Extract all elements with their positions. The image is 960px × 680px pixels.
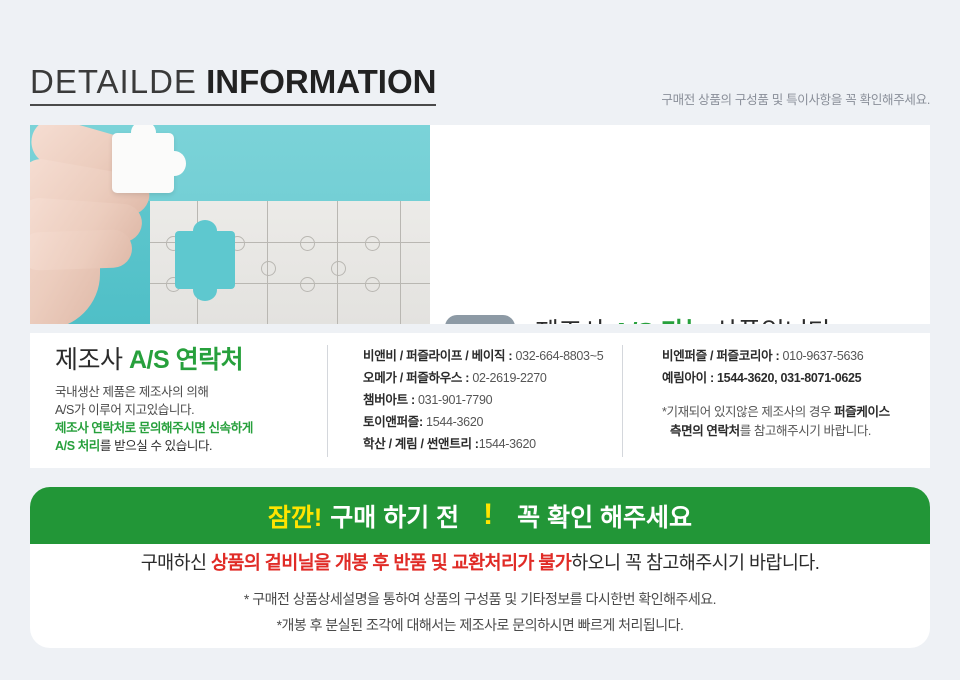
contact-description: 국내생산 제품은 제조사의 의해 A/S가 이루어 지고있습니다. 제조사 연락…: [55, 383, 335, 455]
contact-footnote-bold-1: 퍼즐케이스: [834, 405, 890, 419]
contact-entry-number: 1544-3620, 031-8071-0625: [717, 371, 861, 385]
header-note: 구매전 상품의 구성품 및 특이사항을 꼭 확인해주세요.: [661, 89, 930, 108]
green-banner: 잠깐! 구매 하기 전 ! 꼭 확인 해주세요: [30, 487, 930, 544]
contact-entry-name: 챔버아트 :: [363, 393, 418, 407]
contact-entry: 토이앤퍼즐: 1544-3620: [363, 411, 618, 433]
contact-footnote-post: 를 참고해주시기 바랍니다.: [740, 424, 871, 438]
contact-column-right: 비엔퍼즐 / 퍼즐코리아 : 010-9637-5636 예림아이 : 1544…: [662, 345, 922, 441]
contact-entry-name: 오메가 / 퍼즐하우스 :: [363, 371, 472, 385]
contact-entry: 비앤비 / 퍼즐라이프 / 베이직 : 032-664-8803~5: [363, 345, 618, 367]
contact-panel: 제조사 A/S 연락처 국내생산 제품은 제조사의 의해 A/S가 이루어 지고…: [30, 333, 930, 468]
contact-footnote-line-1: *기재되어 있지않은 제조사의 경우 퍼즐케이스: [662, 403, 922, 422]
contact-column-middle: 비앤비 / 퍼즐라이프 / 베이직 : 032-664-8803~5 오메가 /…: [363, 345, 618, 455]
contact-entry-number: 1544-3620: [426, 415, 483, 429]
hero-heading-post: 상품입니다.: [707, 317, 838, 324]
contact-entry-name: 토이앤퍼즐:: [363, 415, 426, 429]
contact-entry-name: 예림아이 :: [662, 371, 717, 385]
hero-heading-highlight: A/S 가능: [612, 317, 707, 324]
page-header: DETAILDE INFORMATION 구매전 상품의 구성품 및 특이사항을…: [30, 62, 930, 112]
page-title: DETAILDE INFORMATION: [30, 62, 436, 102]
contact-desc-line-2: A/S가 이루어 지고있습니다.: [55, 401, 335, 419]
banner-text: 잠깐! 구매 하기 전 ! 꼭 확인 해주세요: [268, 498, 692, 534]
puzzle-photo: [30, 125, 430, 324]
puzzle-grid: [150, 201, 430, 324]
hero-section: 제조사 A/S 가능 상품입니다. 각 브랜드 제조사에서 직접 처리를 해드리…: [30, 125, 930, 324]
banner-part-3: 꼭 확인 해주세요: [517, 498, 692, 534]
contact-entry-name: 학산 / 계림 / 썬앤트리 :: [363, 437, 479, 451]
contact-entry: 비엔퍼즐 / 퍼즐코리아 : 010-9637-5636: [662, 345, 922, 367]
warning-card: 잠깐! 구매 하기 전 ! 꼭 확인 해주세요 구매하신 상품의 겉비닐을 개봉…: [30, 487, 930, 648]
banner-part-2: 구매 하기 전: [330, 498, 459, 534]
gears-icon: [445, 315, 515, 324]
contact-desc-green-1: 제조사 연락처로 문의해주시면 신속하게: [55, 419, 335, 437]
contact-entry: 학산 / 계림 / 썬앤트리 :1544-3620: [363, 433, 618, 455]
contact-desc-green-2-hl: A/S 처리: [55, 439, 100, 453]
column-divider-1: [327, 345, 328, 457]
contact-title: 제조사 A/S 연락처: [55, 343, 335, 377]
contact-entry-number: 02-2619-2270: [472, 371, 546, 385]
contact-entry-number: 010-9637-5636: [783, 349, 864, 363]
contact-desc-green-2-rest: 를 받으실 수 있습니다.: [100, 439, 212, 453]
contact-footnote-pre: *기재되어 있지않은 제조사의 경우: [662, 405, 834, 419]
white-puzzle-piece: [112, 133, 174, 193]
contact-entry: 예림아이 : 1544-3620, 031-8071-0625: [662, 367, 922, 389]
contact-footnote-bold-2: 측면의 연락처: [670, 424, 740, 438]
contact-entry-name: 비앤비 / 퍼즐라이프 / 베이직 :: [363, 349, 515, 363]
warning-main-text: 구매하신 상품의 겉비닐을 개봉 후 반품 및 교환처리가 불가하오니 꼭 참고…: [30, 549, 930, 575]
contact-entry-number: 031-901-7790: [418, 393, 492, 407]
exclamation-icon: !: [483, 500, 493, 530]
page-title-bold: INFORMATION: [206, 63, 436, 100]
contact-entry-name: 비엔퍼즐 / 퍼즐코리아 :: [662, 349, 783, 363]
warning-red: 상품의 겉비닐을 개봉 후 반품 및 교환처리가 불가: [211, 552, 571, 573]
contact-title-pre: 제조사: [55, 346, 129, 374]
contact-entry: 챔버아트 : 031-901-7790: [363, 389, 618, 411]
page-title-wrap: DETAILDE INFORMATION: [30, 62, 436, 106]
contact-desc-green-2: A/S 처리를 받으실 수 있습니다.: [55, 437, 335, 455]
hand-holding-piece: [30, 125, 170, 319]
contact-intro: 제조사 A/S 연락처 국내생산 제품은 제조사의 의해 A/S가 이루어 지고…: [55, 343, 335, 455]
contact-entry-number: 1544-3620: [479, 437, 536, 451]
contact-entry: 오메가 / 퍼즐하우스 : 02-2619-2270: [363, 367, 618, 389]
page-title-light: DETAILDE: [30, 63, 197, 100]
banner-part-1: 잠깐!: [268, 498, 322, 534]
warning-post: 하오니 꼭 참고해주시기 바랍니다.: [571, 552, 819, 573]
contact-footnote: *기재되어 있지않은 제조사의 경우 퍼즐케이스 측면의 연락처를 참고해주시기…: [662, 403, 922, 441]
contact-title-highlight: A/S 연락처: [129, 346, 243, 374]
warning-sub-note-2: *개봉 후 분실된 조각에 대해서는 제조사로 문의하시면 빠르게 처리됩니다.: [30, 615, 930, 635]
contact-desc-line-1: 국내생산 제품은 제조사의 의해: [55, 383, 335, 401]
hero-text-block: 제조사 A/S 가능 상품입니다. 각 브랜드 제조사에서 직접 처리를 해드리…: [535, 315, 840, 324]
puzzle-gap: [175, 231, 235, 289]
hero-heading: 제조사 A/S 가능 상품입니다.: [535, 315, 840, 324]
warning-pre: 구매하신: [141, 552, 211, 573]
warning-sub-note-1: * 구매전 상품상세설명을 통하여 상품의 구성품 및 기타정보를 다시한번 확…: [30, 589, 930, 609]
hero-heading-pre: 제조사: [535, 317, 612, 324]
column-divider-2: [622, 345, 623, 457]
contact-entry-number: 032-664-8803~5: [515, 349, 603, 363]
contact-footnote-line-2: 측면의 연락처를 참고해주시기 바랍니다.: [662, 422, 922, 441]
